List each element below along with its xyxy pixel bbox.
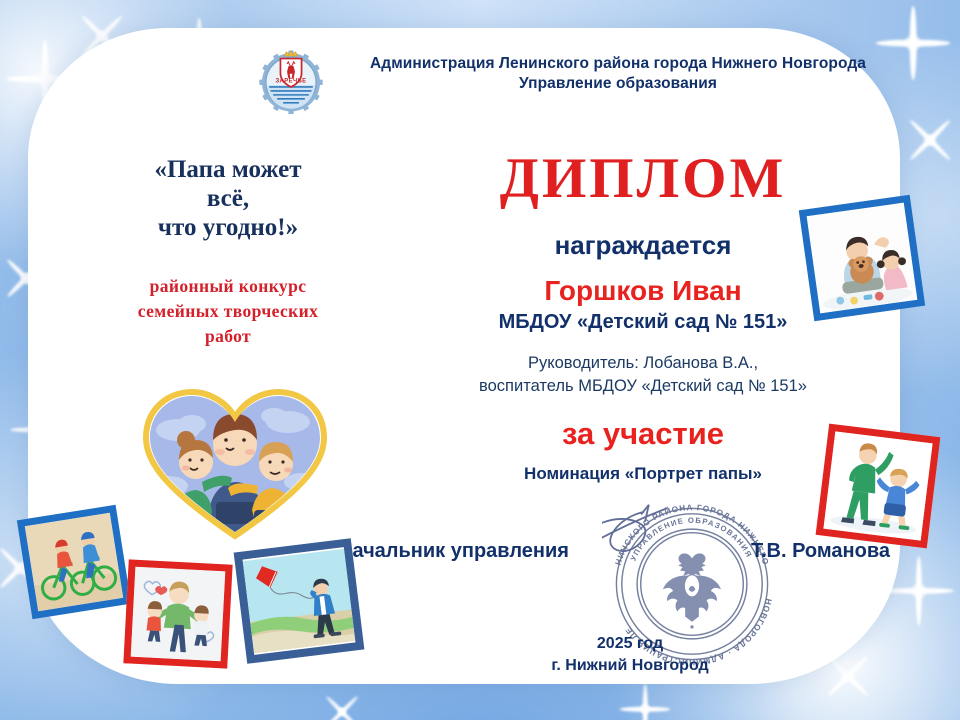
contest-info: «Папа может всё, что угодно!» районный к…	[78, 155, 378, 349]
zarechye-district-emblem-icon: ЗАРЕЧЬЕ	[258, 48, 324, 114]
certificate-header: ЗАРЕЧЬЕ Администрация Ленинского района …	[258, 36, 898, 114]
photo-family-cycling	[17, 505, 131, 619]
photo-dad-with-teddy-and-daughter	[799, 195, 925, 321]
photo-man-flying-kite	[234, 538, 365, 664]
contest-title-line-1: «Папа может	[78, 155, 378, 184]
supervisor-info: Руководитель: Лобанова В.А., воспитатель…	[398, 352, 888, 398]
contest-subtitle: районный конкурс семейных творческих раб…	[78, 274, 378, 349]
authority-line-1: Администрация Ленинского района города Н…	[338, 54, 898, 74]
award-reason: за участие	[398, 416, 888, 452]
certificate-footer: 2025 год г. Нижний Новгород	[480, 633, 780, 676]
contest-subtitle-line-1: районный конкурс	[78, 274, 378, 299]
supervisor-line-2: воспитатель МБДОУ «Детский сад № 151»	[398, 375, 888, 398]
signature-row: Начальник управления Т.В. Романова	[338, 540, 890, 563]
issuing-authority: Администрация Ленинского района города Н…	[338, 36, 898, 95]
photo-dad-and-son-exercising	[816, 424, 941, 549]
authority-line-2: Управление образования	[338, 74, 898, 94]
contest-subtitle-line-2: семейных творческих	[78, 299, 378, 324]
sparkle-icon	[890, 100, 960, 179]
photo-dad-holding-two-children	[123, 559, 232, 668]
sparkle-icon	[620, 684, 670, 720]
supervisor-line-1: Руководитель: Лобанова В.А.,	[398, 352, 888, 375]
signatory-name: Т.В. Романова	[751, 540, 890, 563]
svg-text:ЗАРЕЧЬЕ: ЗАРЕЧЬЕ	[275, 78, 306, 84]
contest-subtitle-line-3: работ	[78, 324, 378, 349]
contest-title: «Папа может всё, что угодно!»	[78, 155, 378, 242]
contest-title-line-3: что угодно!»	[78, 213, 378, 242]
contest-title-line-2: всё,	[78, 184, 378, 213]
sparkle-icon	[311, 681, 373, 720]
nomination-category: Номинация «Портрет папы»	[398, 464, 888, 484]
issue-city: г. Нижний Новгород	[480, 655, 780, 677]
signatory-position: Начальник управления	[338, 540, 569, 563]
issue-year: 2025 год	[480, 633, 780, 655]
diploma-heading: ДИПЛОМ	[398, 150, 888, 207]
illustration-heart-family-hug	[142, 382, 328, 540]
certificate-canvas: ЗАРЕЧЬЕ Администрация Ленинского района …	[0, 0, 960, 720]
